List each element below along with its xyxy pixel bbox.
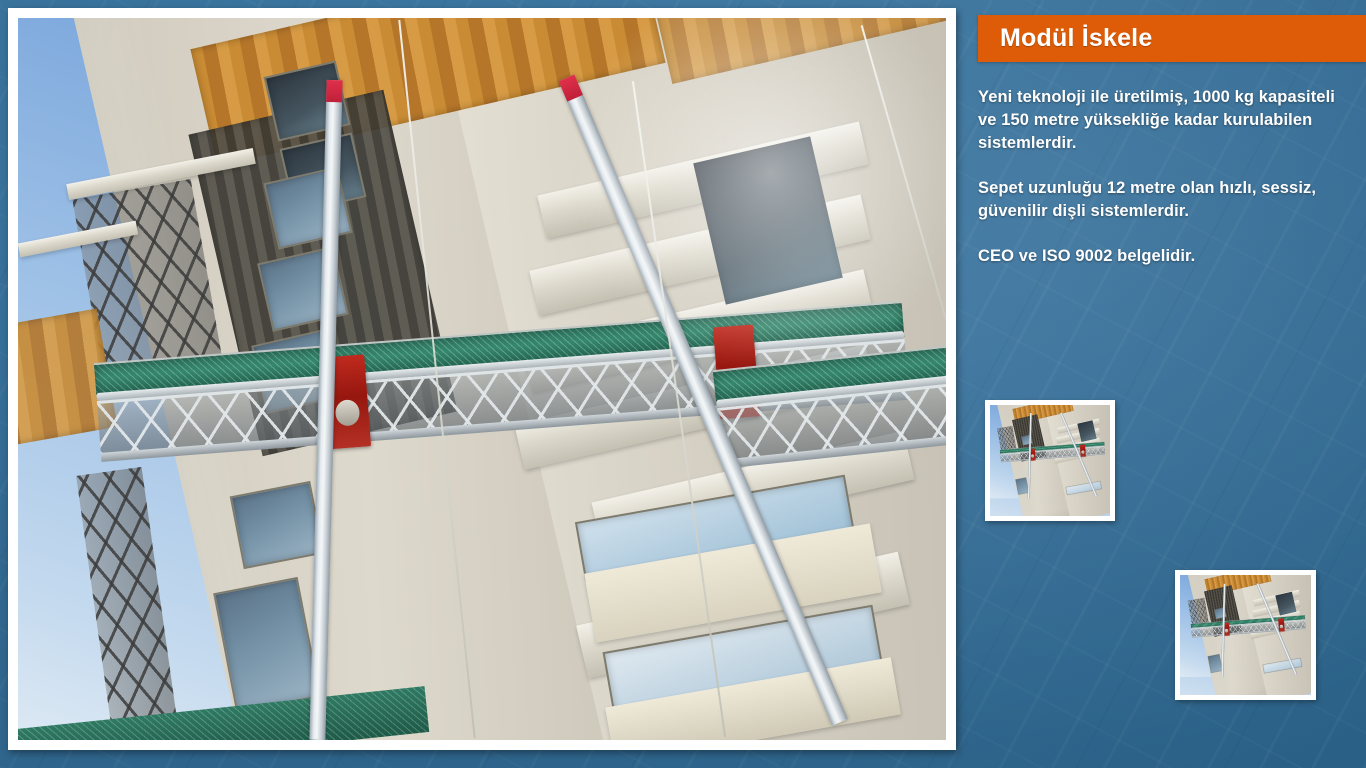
page-title: Modül İskele xyxy=(978,24,1152,53)
panel-title-bar: Modül İskele xyxy=(978,15,1366,62)
window xyxy=(230,481,325,569)
platform-hoist-motor xyxy=(1080,445,1086,457)
thumbnail-1-image xyxy=(990,405,1110,516)
thumbnail-2[interactable] xyxy=(1175,570,1316,700)
thumbnail-1-scene xyxy=(990,405,1110,498)
slide-root: Modül İskele Yeni teknoloji ile üretilmi… xyxy=(0,0,1366,768)
description-paragraph-2: Sepet uzunluğu 12 metre olan hızlı, sess… xyxy=(978,177,1338,223)
main-photo xyxy=(18,18,946,740)
main-photo-frame[interactable] xyxy=(8,8,956,750)
thumbnail-1[interactable] xyxy=(985,400,1115,521)
description-paragraph-1: Yeni teknoloji ile üretilmiş, 1000 kg ka… xyxy=(978,86,1338,155)
description-paragraph-3: CEO ve ISO 9002 belgelidir. xyxy=(978,245,1338,268)
thumbnail-2-scene xyxy=(1180,575,1311,677)
thumbnail-2-image xyxy=(1180,575,1311,695)
info-panel: Modül İskele Yeni teknoloji ile üretilmi… xyxy=(956,0,1366,768)
platform-hoist-motor xyxy=(1278,618,1285,631)
mast-tip-marker xyxy=(326,80,343,102)
panel-description: Yeni teknoloji ile üretilmiş, 1000 kg ka… xyxy=(978,86,1338,268)
